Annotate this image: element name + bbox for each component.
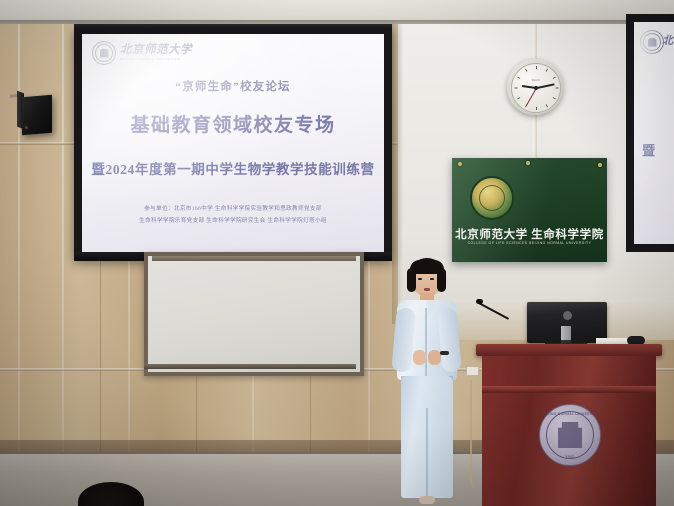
life-sciences-emblem-icon xyxy=(470,176,514,220)
secondary-screen-glare xyxy=(634,22,674,244)
wall-seam xyxy=(62,24,64,454)
banner-pin-icon xyxy=(526,161,530,165)
podium-university-seal-icon: BEIJING NORMAL UNIVERSITY 1902 xyxy=(539,404,601,466)
clock-minute-hand xyxy=(536,83,555,88)
clock-tick xyxy=(517,97,520,99)
presenter-shoe xyxy=(419,496,435,504)
whiteboard-icon xyxy=(144,252,364,376)
projection-screen[interactable]: 北京师范大学 BEIJING NORMAL UNIVERSITY “京师生命”校… xyxy=(82,34,384,252)
speaker-led-icon xyxy=(25,126,28,129)
slide-title: 基础教育领域校友专场 xyxy=(82,110,384,137)
wall-clock: SEIKO xyxy=(507,59,563,115)
power-socket-icon xyxy=(466,366,479,376)
presenter-jeans-seam xyxy=(426,408,428,498)
clock-tick xyxy=(546,104,548,107)
slide-participants-line-2: 生命科学学院乐育党支部 生命科学学院研究生会 生命科学学院灯塔小组 xyxy=(82,218,384,224)
clock-tick xyxy=(556,88,559,89)
bnu-seal-icon-secondary xyxy=(640,30,664,54)
banner-pin-icon xyxy=(598,163,602,167)
presenter-eye-right xyxy=(430,278,434,280)
presenter-hair-right xyxy=(437,268,446,292)
secondary-screen-title-fragment: 暨 xyxy=(642,140,655,159)
slide-logo-text: 北京师范大学 BEIJING NORMAL UNIVERSITY xyxy=(120,45,192,62)
slide-participants-line-1: 参与单位：北京市166中学 生命科学学院实验教学和思政教师党支部 xyxy=(82,206,384,212)
green-department-banner: 北京师范大学 生命科学学院 COLLEGE OF LIFE SCIENCES B… xyxy=(452,158,607,262)
banner-pin-icon xyxy=(458,162,462,166)
slide-secondary-title: 暨2024年度第一期中学生物学教学技能训练营 xyxy=(82,158,384,178)
podium-trim-band xyxy=(482,386,656,393)
banner-english-text: COLLEGE OF LIFE SCIENCES BEIJING NORMAL … xyxy=(452,241,607,245)
dell-logo-icon xyxy=(563,311,572,320)
clock-brand-label: SEIKO xyxy=(512,79,560,82)
cable xyxy=(470,380,480,490)
wall-speaker-icon xyxy=(22,95,52,136)
slide-logo-en: BEIJING NORMAL UNIVERSITY xyxy=(120,58,192,61)
podium-seal-ring-text: BEIJING NORMAL UNIVERSITY xyxy=(540,412,600,416)
slide-logo: 北京师范大学 BEIJING NORMAL UNIVERSITY xyxy=(92,41,192,65)
banner-chinese-text: 北京师范大学 生命科学学院 xyxy=(452,226,607,242)
presenter-hair-left xyxy=(407,268,416,292)
bnu-seal-icon xyxy=(92,41,116,65)
microphone-head-icon xyxy=(476,299,483,304)
lecture-hall-scene: 北京师范大学 BEIJING NORMAL UNIVERSITY “京师生命”校… xyxy=(0,0,674,506)
secondary-projection-screen[interactable]: 北 暨 xyxy=(634,22,674,244)
clock-tick xyxy=(546,69,548,72)
wall-seam xyxy=(18,24,20,454)
whiteboard-top-rail xyxy=(152,256,356,261)
presenter-wristwatch-icon xyxy=(440,351,449,355)
presenter-shirt-placket xyxy=(425,308,427,378)
presenter-person-icon xyxy=(385,258,467,506)
clock-face: SEIKO xyxy=(511,63,561,113)
clock-tick xyxy=(515,88,518,89)
clock-second-hand xyxy=(526,88,537,106)
clock-tick xyxy=(525,69,527,72)
podium-top-surface xyxy=(476,344,662,356)
slide-subtitle: “京师生命”校友论坛 xyxy=(82,78,384,94)
clock-tick xyxy=(536,66,537,69)
presenter-mouth xyxy=(424,288,430,291)
clock-tick xyxy=(536,107,537,110)
podium-seal-emblem xyxy=(558,422,582,448)
presenter-hand-left xyxy=(413,350,426,365)
podium-seal-year: 1902 xyxy=(540,455,600,459)
secondary-screen-logo-cn: 北 xyxy=(662,32,673,48)
slide-logo-cn: 北京师范大学 xyxy=(120,45,192,57)
clock-hub xyxy=(534,86,538,90)
whiteboard-marker-tray xyxy=(144,364,356,369)
clock-tick xyxy=(553,97,556,99)
presenter-eye-left xyxy=(418,278,422,280)
